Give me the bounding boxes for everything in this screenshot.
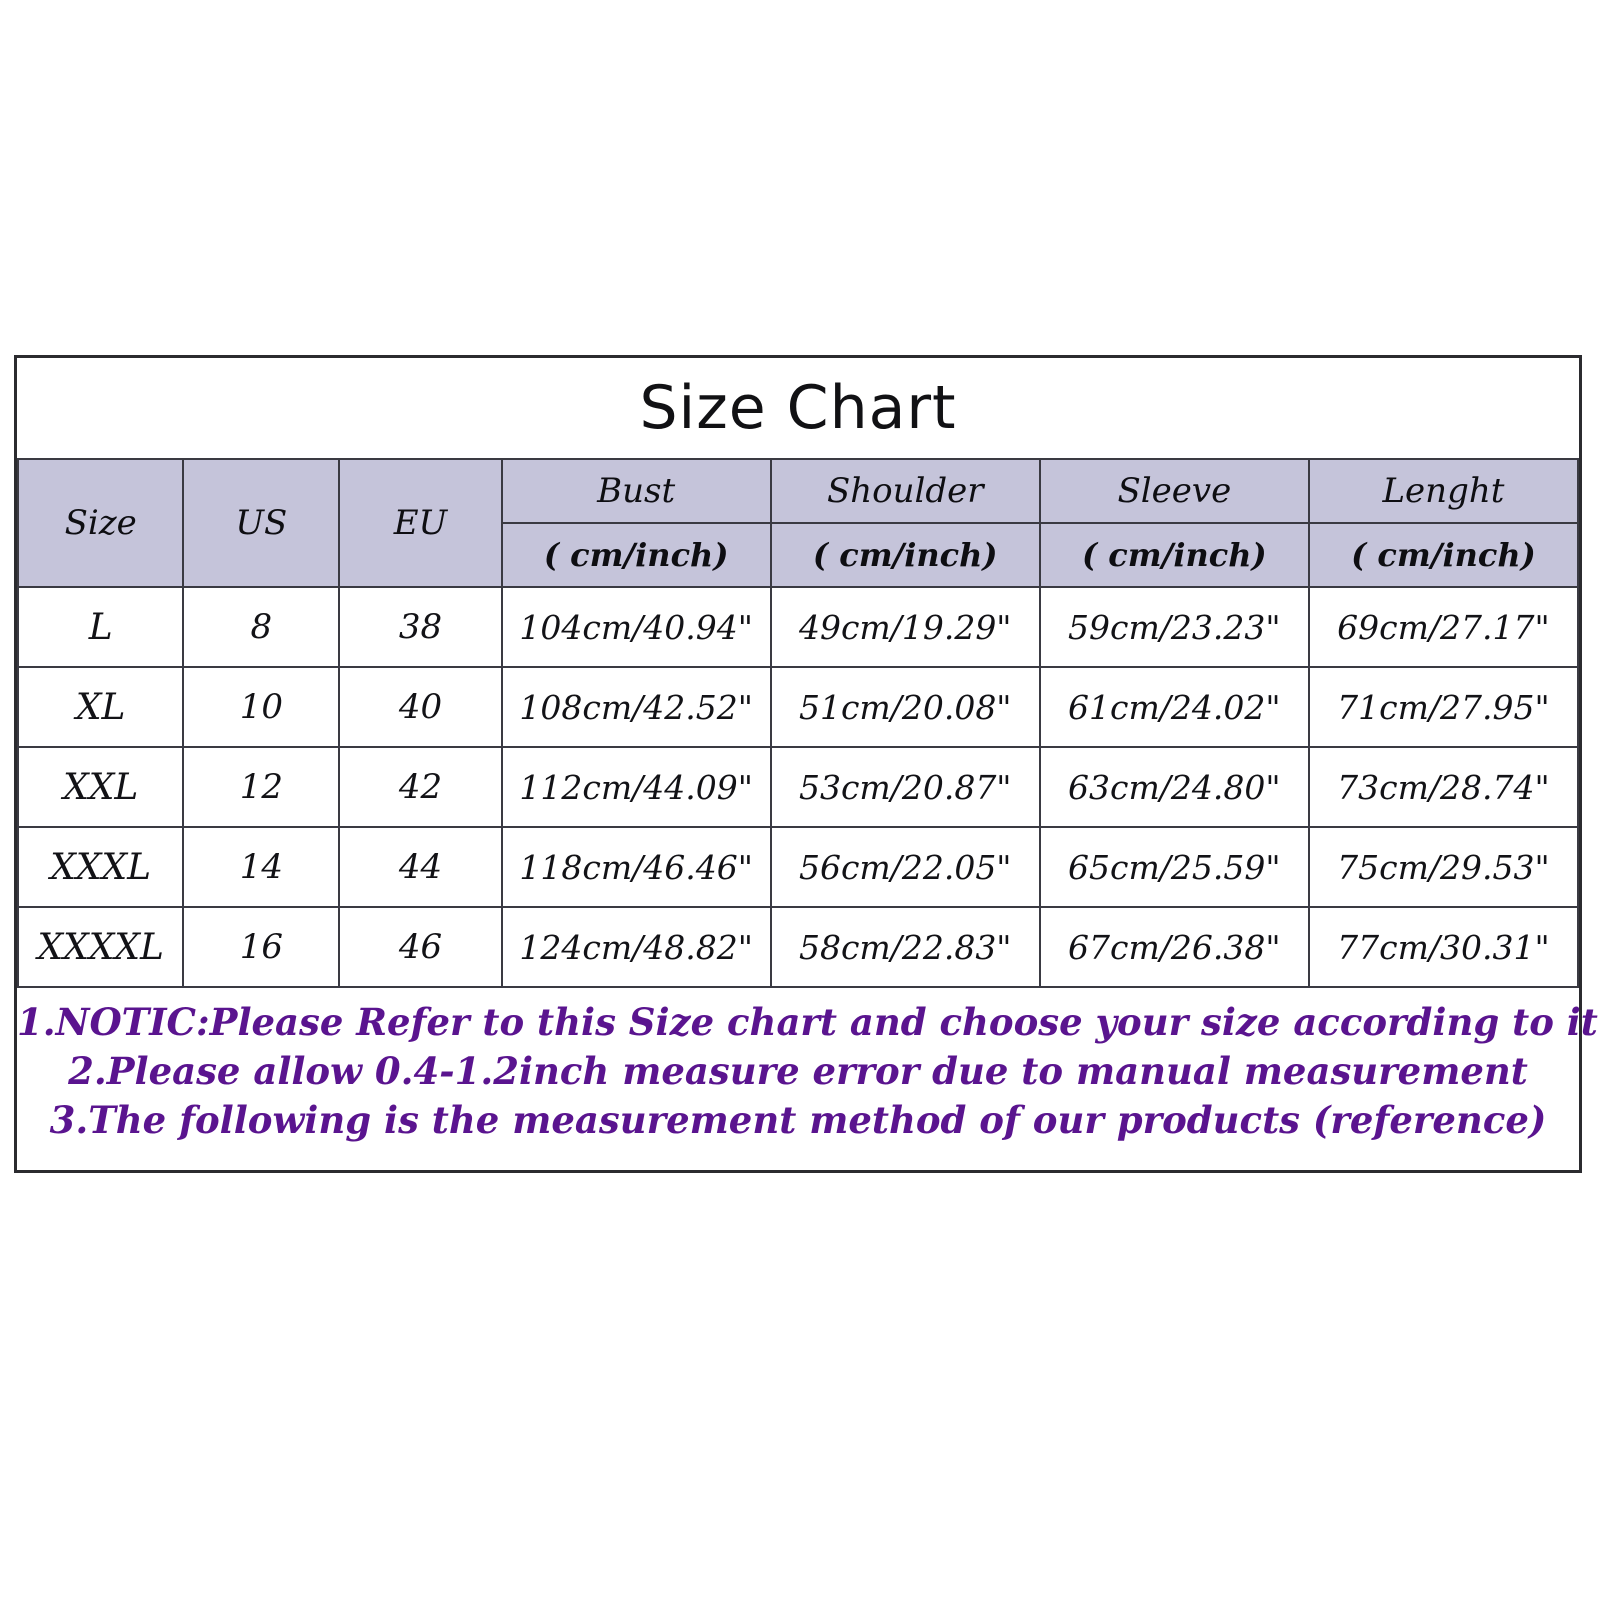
table-body: L 8 38 104cm/40.94" 49cm/19.29" 59cm/23.…	[18, 587, 1578, 987]
size-chart-container: Size Chart Size US EU Bust Shoulder Slee…	[14, 355, 1582, 1173]
cell-eu: 44	[339, 827, 501, 907]
cell-length: 75cm/29.53"	[1309, 827, 1578, 907]
cell-eu: 46	[339, 907, 501, 987]
cell-eu: 38	[339, 587, 501, 667]
page-title: Size Chart	[639, 378, 956, 438]
header-row-primary: Size US EU Bust Shoulder Sleeve Lenght	[18, 459, 1578, 523]
table-row: XL 10 40 108cm/42.52" 51cm/20.08" 61cm/2…	[18, 667, 1578, 747]
notice-line-1: 1.NOTIC:Please Refer to this Size chart …	[17, 998, 1579, 1047]
table-row: XXXXL 16 46 124cm/48.82" 58cm/22.83" 67c…	[18, 907, 1578, 987]
cell-eu: 40	[339, 667, 501, 747]
cell-shoulder: 51cm/20.08"	[771, 667, 1040, 747]
column-header-eu: EU	[339, 459, 501, 587]
cell-eu: 42	[339, 747, 501, 827]
cell-sleeve: 61cm/24.02"	[1040, 667, 1309, 747]
cell-bust: 104cm/40.94"	[502, 587, 771, 667]
column-header-sleeve: Sleeve	[1040, 459, 1309, 523]
cell-sleeve: 67cm/26.38"	[1040, 907, 1309, 987]
cell-shoulder: 56cm/22.05"	[771, 827, 1040, 907]
cell-size: XXL	[18, 747, 183, 827]
table-header: Size US EU Bust Shoulder Sleeve Lenght (…	[18, 459, 1578, 587]
cell-sleeve: 63cm/24.80"	[1040, 747, 1309, 827]
cell-length: 73cm/28.74"	[1309, 747, 1578, 827]
size-chart-table: Size US EU Bust Shoulder Sleeve Lenght (…	[17, 458, 1579, 988]
size-chart-page: Size Chart Size US EU Bust Shoulder Slee…	[0, 0, 1600, 1600]
table-row: L 8 38 104cm/40.94" 49cm/19.29" 59cm/23.…	[18, 587, 1578, 667]
cell-bust: 118cm/46.46"	[502, 827, 771, 907]
cell-length: 77cm/30.31"	[1309, 907, 1578, 987]
cell-shoulder: 53cm/20.87"	[771, 747, 1040, 827]
cell-bust: 112cm/44.09"	[502, 747, 771, 827]
notice-line-3: 3.The following is the measurement metho…	[17, 1096, 1579, 1145]
column-header-bust: Bust	[502, 459, 771, 523]
table-row: XXL 12 42 112cm/44.09" 53cm/20.87" 63cm/…	[18, 747, 1578, 827]
cell-length: 71cm/27.95"	[1309, 667, 1578, 747]
cell-size: L	[18, 587, 183, 667]
cell-us: 14	[183, 827, 339, 907]
column-unit-length: ( cm/inch)	[1309, 523, 1578, 587]
cell-bust: 108cm/42.52"	[502, 667, 771, 747]
column-unit-sleeve: ( cm/inch)	[1040, 523, 1309, 587]
column-header-size: Size	[18, 459, 183, 587]
cell-us: 12	[183, 747, 339, 827]
cell-us: 8	[183, 587, 339, 667]
cell-sleeve: 59cm/23.23"	[1040, 587, 1309, 667]
column-header-us: US	[183, 459, 339, 587]
column-unit-bust: ( cm/inch)	[502, 523, 771, 587]
cell-size: XXXXL	[18, 907, 183, 987]
title-band: Size Chart	[17, 358, 1579, 458]
notice-line-2: 2.Please allow 0.4-1.2inch measure error…	[17, 1047, 1579, 1096]
cell-us: 16	[183, 907, 339, 987]
cell-shoulder: 58cm/22.83"	[771, 907, 1040, 987]
cell-size: XL	[18, 667, 183, 747]
cell-us: 10	[183, 667, 339, 747]
cell-bust: 124cm/48.82"	[502, 907, 771, 987]
cell-shoulder: 49cm/19.29"	[771, 587, 1040, 667]
column-unit-shoulder: ( cm/inch)	[771, 523, 1040, 587]
cell-size: XXXL	[18, 827, 183, 907]
notice-block: 1.NOTIC:Please Refer to this Size chart …	[17, 988, 1579, 1158]
cell-sleeve: 65cm/25.59"	[1040, 827, 1309, 907]
column-header-length: Lenght	[1309, 459, 1578, 523]
table-row: XXXL 14 44 118cm/46.46" 56cm/22.05" 65cm…	[18, 827, 1578, 907]
cell-length: 69cm/27.17"	[1309, 587, 1578, 667]
column-header-shoulder: Shoulder	[771, 459, 1040, 523]
